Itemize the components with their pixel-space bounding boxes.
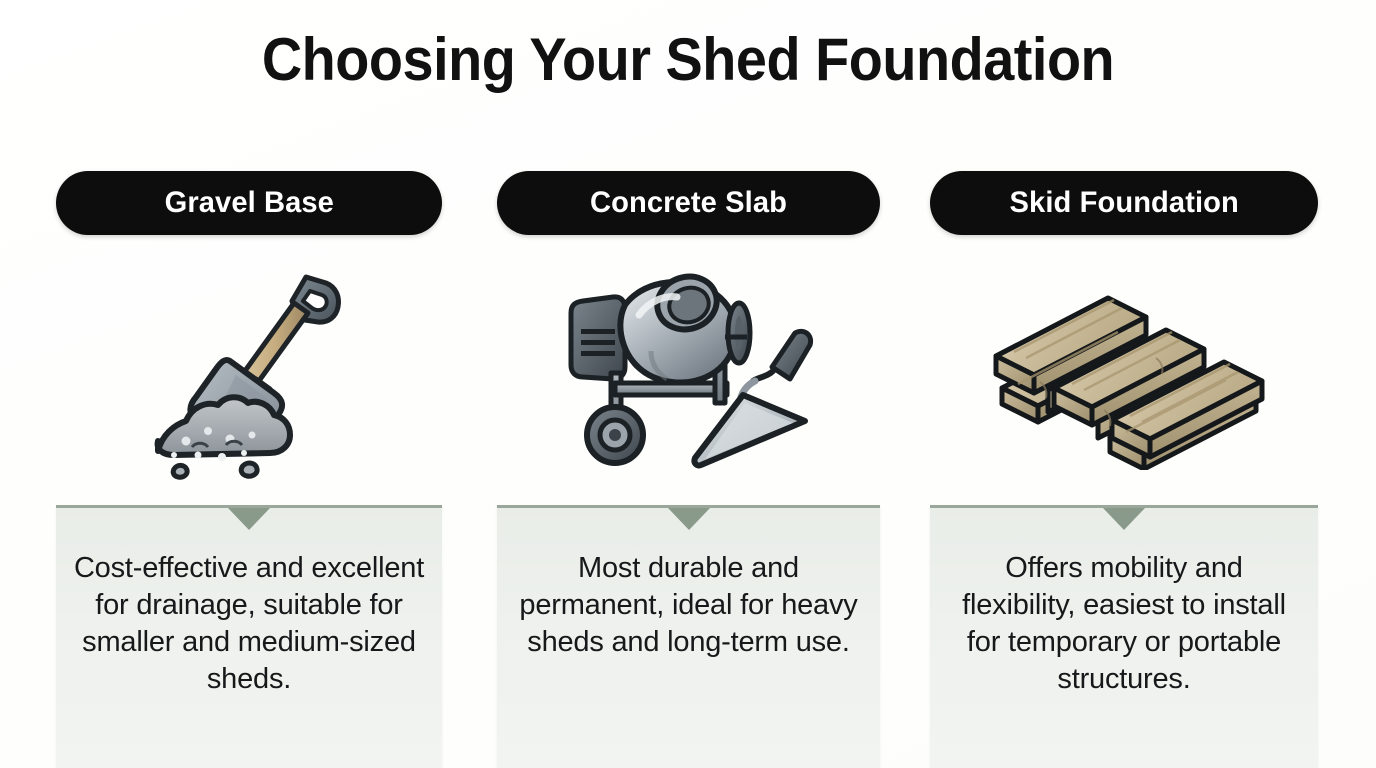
panel-notch-icon	[1103, 508, 1145, 530]
panel-notch-icon	[668, 508, 710, 530]
option-caption-panel: Most durable and permanent, ideal for he…	[497, 505, 880, 768]
option-caption: Cost-effective and excellent for drainag…	[72, 550, 426, 698]
option-caption-panel: Cost-effective and excellent for drainag…	[56, 505, 442, 768]
concrete-mixer-trowel-icon	[497, 241, 880, 499]
option-caption: Offers mobility and flexibility, easiest…	[946, 550, 1302, 698]
page-title: Choosing Your Shed Foundation	[48, 28, 1328, 91]
option-label: Gravel Base	[164, 186, 333, 220]
wooden-pallet-skid-icon	[930, 241, 1318, 499]
option-header-gravel-base[interactable]: Gravel Base	[56, 171, 442, 235]
option-header-concrete-slab[interactable]: Concrete Slab	[497, 171, 880, 235]
panel-notch-icon	[228, 508, 270, 530]
shovel-gravel-pile-icon	[56, 241, 442, 499]
option-label: Skid Foundation	[1009, 186, 1238, 220]
option-header-skid-foundation[interactable]: Skid Foundation	[930, 171, 1318, 235]
option-label: Concrete Slab	[590, 186, 787, 220]
option-caption-panel: Offers mobility and flexibility, easiest…	[930, 505, 1318, 768]
foundation-options-row: Gravel Base	[0, 171, 1376, 768]
foundation-option-skid-foundation: Skid Foundation	[930, 171, 1318, 768]
infographic-canvas: Choosing Your Shed Foundation Gravel Bas…	[0, 0, 1376, 768]
option-caption: Most durable and permanent, ideal for he…	[513, 550, 864, 661]
foundation-option-gravel-base: Gravel Base	[56, 171, 442, 768]
foundation-option-concrete-slab: Concrete Slab	[497, 171, 880, 768]
